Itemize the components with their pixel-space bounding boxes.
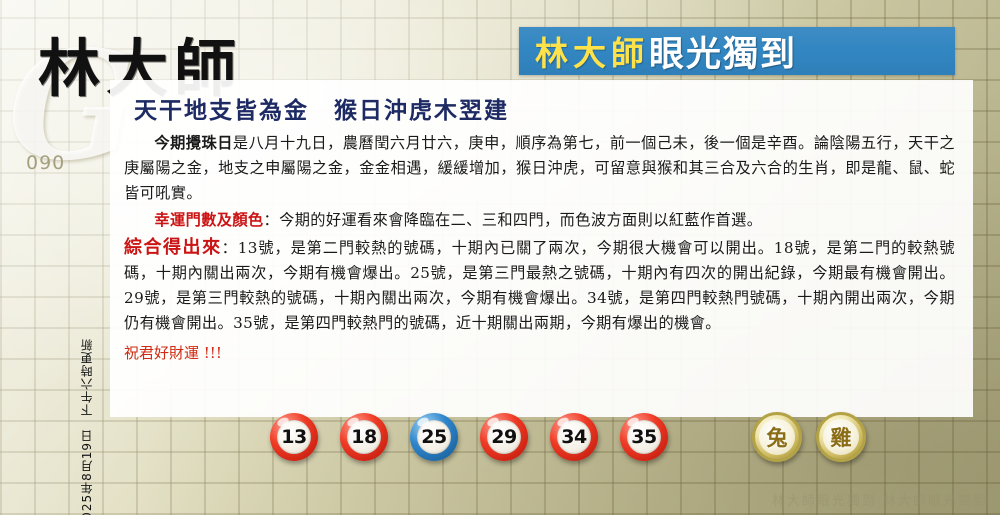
article-panel: 天干地支皆為金 猴日沖虎木翌建 今期攪珠日是八月十九日，農曆閏六月廿六，庚申，順… (110, 80, 973, 417)
summary-body: ：13號，是第二門較熱的號碼，十期內已關了兩次，今期很大機會可以開出。18號，是… (124, 239, 955, 332)
banner-brand-text: 林大師 (535, 27, 649, 75)
poster-root: G 090 林大師 林大師 眼光獨到 天干地支皆為金 猴日沖虎木翌建 今期攪珠日… (0, 0, 1000, 515)
lottery-ball[interactable]: 35 (620, 413, 668, 461)
lottery-ball[interactable]: 13 (270, 413, 318, 461)
lottery-ball[interactable]: 25 (410, 413, 458, 461)
article-paragraph-2: 幸運門數及顏色：今期的好運看來會降臨在二、三和四門，而色波方面則以紅藍作首選。 (124, 208, 955, 233)
footer-watermark: 林大師眼光獨到 林大師眼光獨到 (772, 490, 988, 509)
summary-label: 綜合得出來 (124, 237, 222, 258)
article-paragraph-3: 綜合得出來：13號，是第二門較熱的號碼，十期內已關了兩次，今期很大機會可以開出。… (124, 235, 955, 336)
zodiac-coin-label: 兔 (759, 419, 795, 455)
lucky-number-balls: 13 18 25 29 34 35 (270, 413, 668, 461)
issue-number-watermark: 090 (26, 152, 65, 174)
zodiac-coin-label: 雞 (823, 419, 859, 455)
lucky-gate-label: 幸運門數及顏色 (154, 211, 263, 229)
zodiac-coin[interactable]: 兔 (752, 412, 802, 462)
lottery-ball[interactable]: 18 (340, 413, 388, 461)
zodiac-coin[interactable]: 雞 (816, 412, 866, 462)
brand-banner: 林大師 眼光獨到 (519, 27, 955, 75)
paragraph-1-lead: 今期攪珠日 (154, 134, 233, 152)
lottery-ball[interactable]: 29 (480, 413, 528, 461)
update-timestamp: 2025年8月19日 下午六時更新 (78, 338, 95, 515)
article-headline: 天干地支皆為金 猴日沖虎木翌建 (134, 91, 959, 125)
lottery-ball[interactable]: 34 (550, 413, 598, 461)
paragraph-1-body: 是八月十九日，農曆閏六月廿六，庚申，順序為第七，前一個己未，後一個是辛酉。論陰陽… (124, 134, 955, 202)
zodiac-coins: 兔 雞 (752, 412, 866, 462)
lucky-gate-body: ：今期的好運看來會降臨在二、三和四門，而色波方面則以紅藍作首選。 (264, 211, 763, 229)
banner-slogan-text: 眼光獨到 (649, 26, 797, 77)
closing-wish: 祝君好財運 !!! (124, 342, 959, 363)
article-paragraph-1: 今期攪珠日是八月十九日，農曆閏六月廿六，庚申，順序為第七，前一個己未，後一個是辛… (124, 131, 955, 206)
